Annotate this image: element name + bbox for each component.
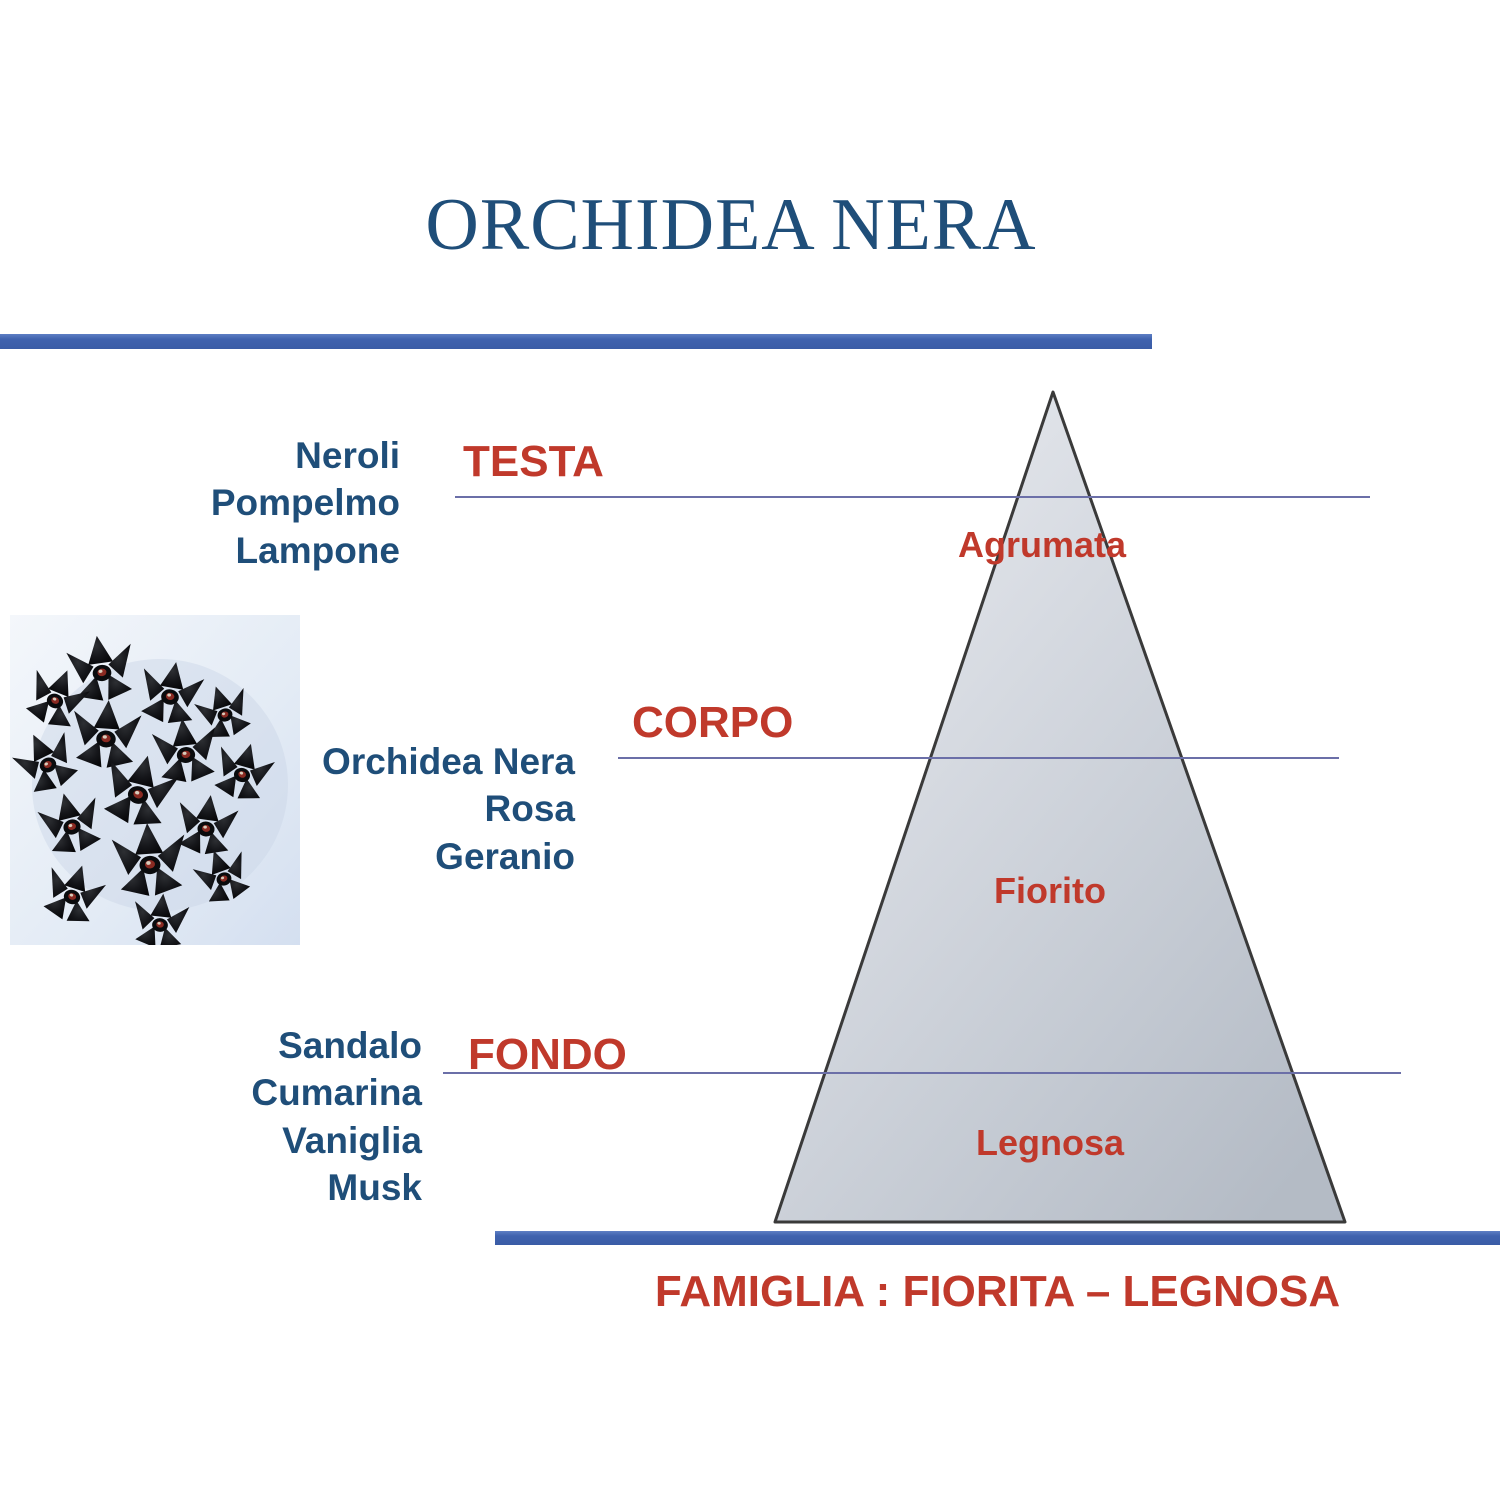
fragrance-pyramid-slide: ORCHIDEA NERA bbox=[0, 0, 1500, 1500]
top-accent-bar bbox=[0, 334, 1152, 349]
stage-label-testa: TESTA bbox=[463, 437, 604, 487]
black-orchid-photo bbox=[10, 615, 300, 945]
fragrance-pyramid-shape bbox=[765, 382, 1360, 1232]
pyramid-triangle bbox=[765, 382, 1360, 1232]
notes-list-fondo: SandaloCumarinaVanigliaMusk bbox=[190, 1022, 422, 1211]
family-label-legnosa: Legnosa bbox=[930, 1122, 1170, 1164]
family-caption: FAMIGLIA : FIORITA – LEGNOSA bbox=[495, 1267, 1500, 1317]
divider-line-testa bbox=[455, 496, 1370, 498]
family-label-fiorito: Fiorito bbox=[930, 870, 1170, 912]
family-label-agrumata: Agrumata bbox=[958, 522, 1126, 567]
stage-label-fondo: FONDO bbox=[468, 1030, 627, 1080]
divider-line-corpo bbox=[618, 757, 1339, 759]
bottom-accent-bar bbox=[495, 1231, 1500, 1245]
stage-label-corpo: CORPO bbox=[632, 698, 793, 748]
page-title: ORCHIDEA NERA bbox=[0, 188, 1462, 262]
orchid-illustration bbox=[10, 615, 300, 945]
notes-list-testa: NeroliPompelmoLampone bbox=[110, 432, 400, 574]
notes-list-corpo: Orchidea NeraRosaGeranio bbox=[260, 738, 575, 880]
